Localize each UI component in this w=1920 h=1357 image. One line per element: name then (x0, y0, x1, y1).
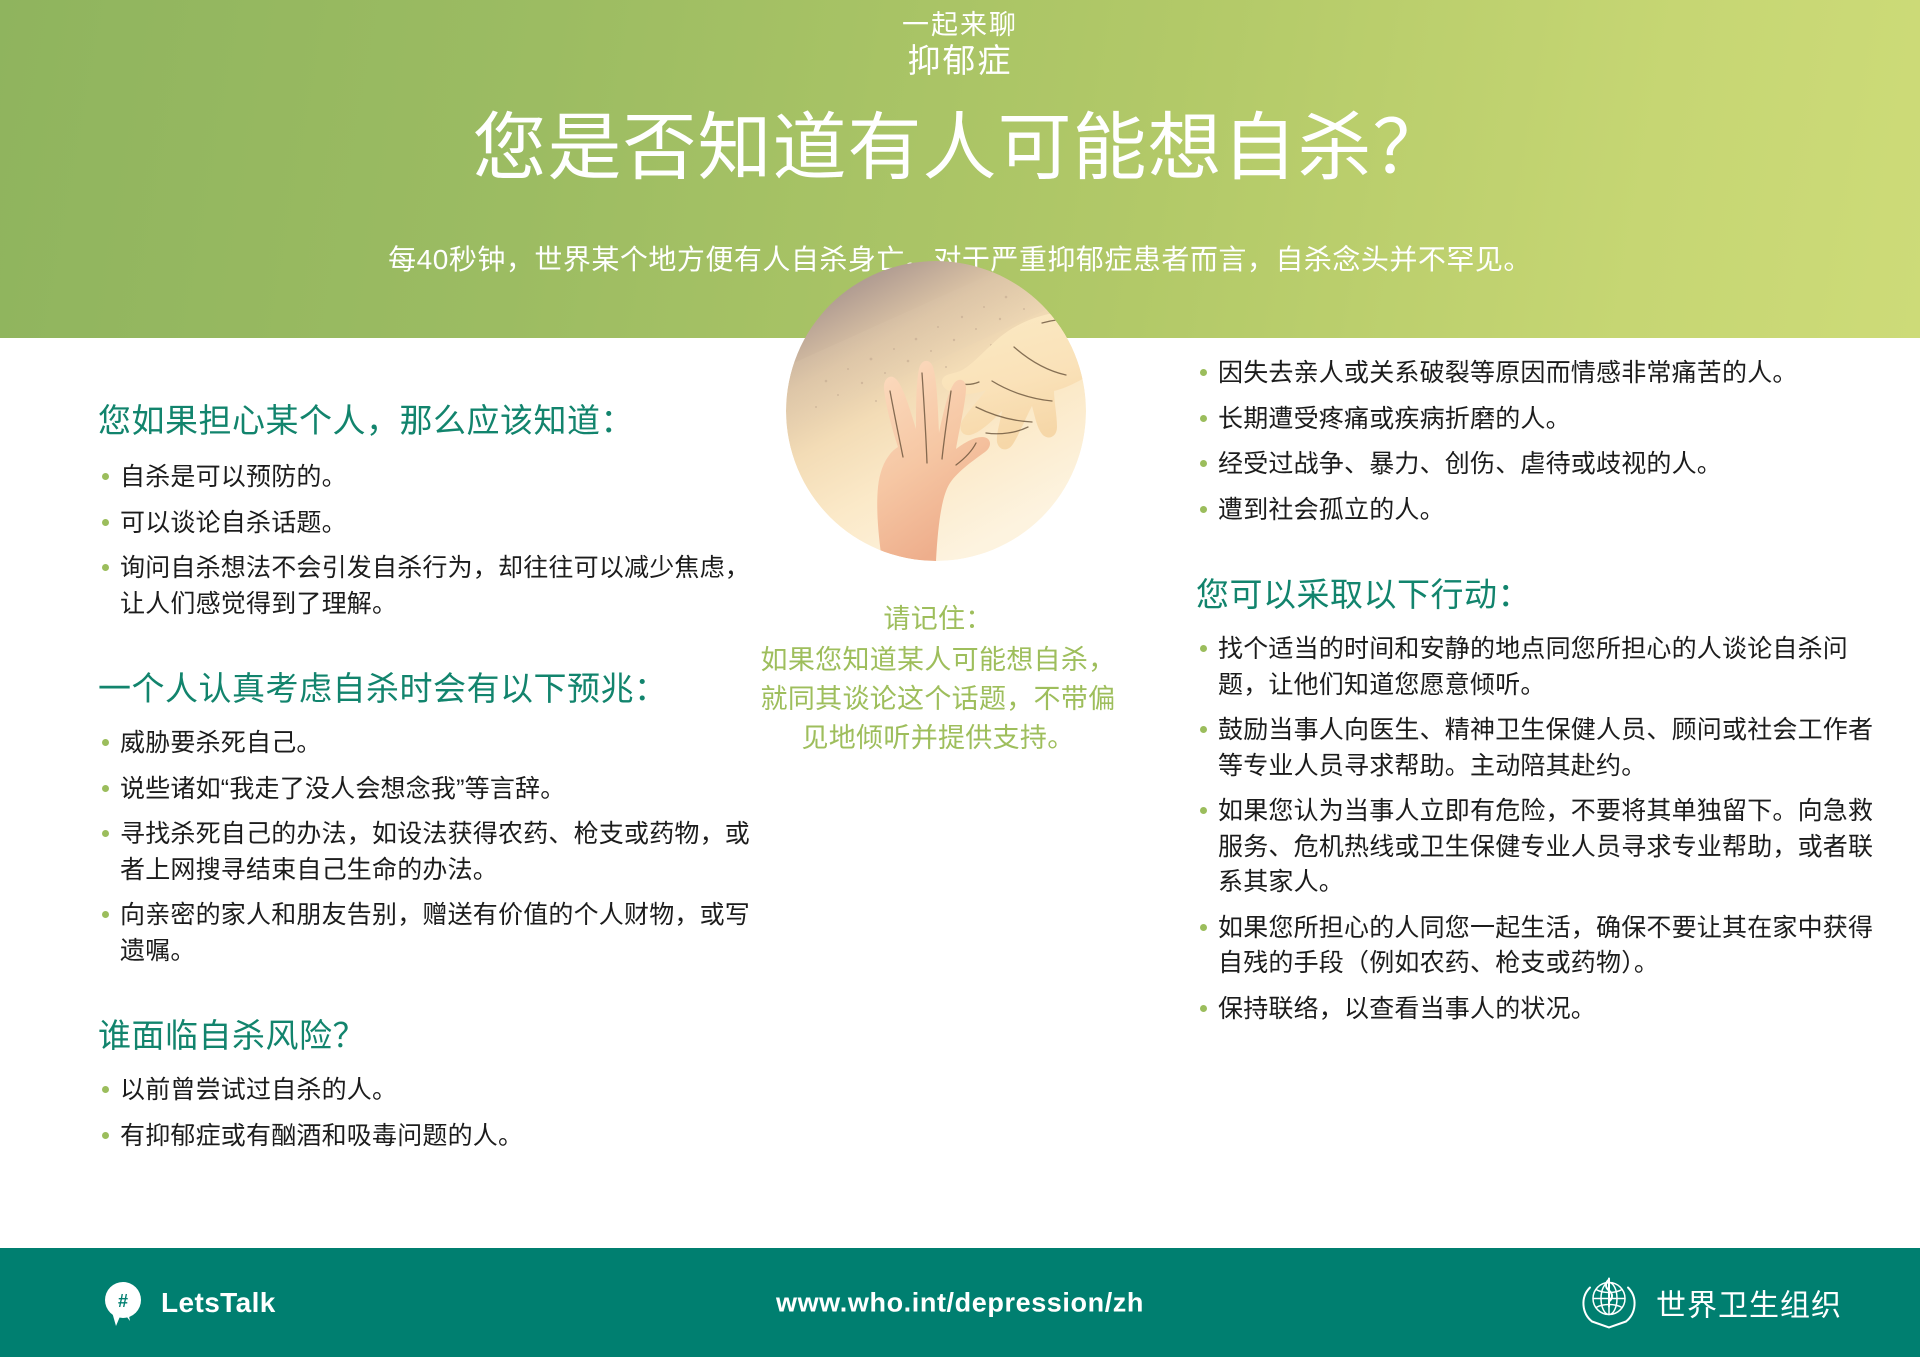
list-item: 长期遭受疼痛或疾病折磨的人。 (1196, 402, 1876, 438)
who-organization-name: 世界卫生组织 (1656, 1281, 1842, 1325)
list-item: 威胁要杀死自己。 (98, 726, 758, 762)
list-item: 以前曾尝试过自杀的人。 (98, 1073, 758, 1109)
list-item: 有抑郁症或有酗酒和吸毒问题的人。 (98, 1119, 758, 1155)
remember-heading: 请记住： (748, 600, 1128, 639)
section-heading-warning-signs: 一个人认真考虑自杀时会有以下预兆： (98, 662, 758, 710)
section-risk-continued: 因失去亲人或关系破裂等原因而情感非常痛苦的人。 长期遭受疼痛或疾病折磨的人。 经… (1196, 356, 1876, 528)
list-item: 如果您所担心的人同您一起生活，确保不要让其在家中获得自残的手段（例如农药、枪支或… (1196, 911, 1876, 982)
who-logo: 世界卫生组织 (1578, 1269, 1842, 1336)
list-item: 保持联络，以查看当事人的状况。 (1196, 992, 1876, 1028)
section-who-is-at-risk: 谁面临自杀风险？ 以前曾尝试过自杀的人。 有抑郁症或有酗酒和吸毒问题的人。 (98, 1009, 758, 1154)
brand-line-2: 抑郁症 (0, 42, 1920, 81)
who-emblem-icon (1578, 1269, 1640, 1336)
section-heading-what-to-know: 您如果担心某个人，那么应该知道： (98, 394, 758, 442)
list-risk-continued: 因失去亲人或关系破裂等原因而情感非常痛苦的人。 长期遭受疼痛或疾病折磨的人。 经… (1196, 356, 1876, 528)
list-item: 向亲密的家人和朋友告别，赠送有价值的个人财物，或写遗嘱。 (98, 898, 758, 969)
section-heading-who-is-at-risk: 谁面临自杀风险？ (98, 1009, 758, 1057)
list-item: 自杀是可以预防的。 (98, 460, 758, 496)
remember-callout: 请记住： 如果您知道某人可能想自杀，就同其谈论这个话题，不带偏见地倾听并提供支持… (748, 600, 1128, 758)
list-item: 可以谈论自杀话题。 (98, 506, 758, 542)
brand-line-1: 一起来聊 (0, 10, 1920, 42)
list-what-you-can-do: 找个适当的时间和安静的地点同您所担心的人谈论自杀问题，让他们知道您愿意倾听。 鼓… (1196, 632, 1876, 1027)
section-what-to-know: 您如果担心某个人，那么应该知道： 自杀是可以预防的。 可以谈论自杀话题。 询问自… (98, 394, 758, 622)
list-item: 说些诸如“我走了没人会想念我”等言辞。 (98, 772, 758, 808)
remember-body: 如果您知道某人可能想自杀，就同其谈论这个话题，不带偏见地倾听并提供支持。 (761, 645, 1116, 753)
footer-bar: # LetsTalk www.who.int/depression/zh (0, 1248, 1920, 1357)
list-item: 找个适当的时间和安静的地点同您所担心的人谈论自杀问题，让他们知道您愿意倾听。 (1196, 632, 1876, 703)
list-warning-signs: 威胁要杀死自己。 说些诸如“我走了没人会想念我”等言辞。 寻找杀死自己的办法，如… (98, 726, 758, 969)
left-column: 您如果担心某个人，那么应该知道： 自杀是可以预防的。 可以谈论自杀话题。 询问自… (98, 394, 758, 1164)
list-who-is-at-risk: 以前曾尝试过自杀的人。 有抑郁症或有酗酒和吸毒问题的人。 (98, 1073, 758, 1154)
section-what-you-can-do: 您可以采取以下行动： 找个适当的时间和安静的地点同您所担心的人谈论自杀问题，让他… (1196, 568, 1876, 1027)
list-item: 鼓励当事人向医生、精神卫生保健人员、顾问或社会工作者等专业人员寻求帮助。主动陪其… (1196, 713, 1876, 784)
page-title: 您是否知道有人可能想自杀？ (0, 110, 1920, 187)
list-item: 寻找杀死自己的办法，如设法获得农药、枪支或药物，或者上网搜寻结束自己生命的办法。 (98, 817, 758, 888)
list-item: 询问自杀想法不会引发自杀行为，却往往可以减少焦虑，让人们感觉得到了理解。 (98, 551, 758, 622)
reaching-hands-image (786, 261, 1086, 561)
section-warning-signs: 一个人认真考虑自杀时会有以下预兆： 威胁要杀死自己。 说些诸如“我走了没人会想念… (98, 662, 758, 969)
list-item: 经受过战争、暴力、创伤、虐待或歧视的人。 (1196, 447, 1876, 483)
right-column: 因失去亲人或关系破裂等原因而情感非常痛苦的人。 长期遭受疼痛或疾病折磨的人。 经… (1196, 356, 1876, 1037)
list-item: 因失去亲人或关系破裂等原因而情感非常痛苦的人。 (1196, 356, 1876, 392)
reaching-hands-illustration (786, 261, 1086, 561)
list-item: 如果您认为当事人立即有危险，不要将其单独留下。向急救服务、危机热线或卫生保健专业… (1196, 794, 1876, 901)
campaign-brand: 一起来聊 抑郁症 (0, 10, 1920, 81)
section-heading-what-you-can-do: 您可以采取以下行动： (1196, 568, 1876, 616)
list-item: 遭到社会孤立的人。 (1196, 493, 1876, 529)
center-column: 请记住： 如果您知道某人可能想自杀，就同其谈论这个话题，不带偏见地倾听并提供支持… (768, 338, 1168, 1248)
list-what-to-know: 自杀是可以预防的。 可以谈论自杀话题。 询问自杀想法不会引发自杀行为，却往往可以… (98, 460, 758, 622)
